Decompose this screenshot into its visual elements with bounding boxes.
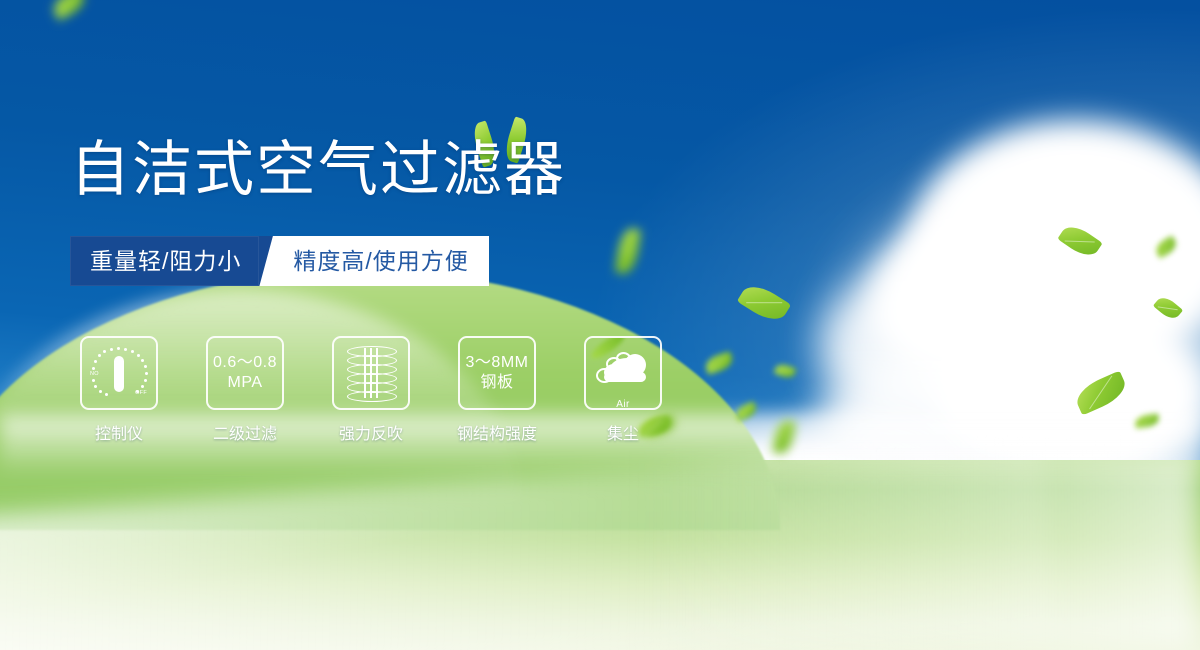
grass-light-wash: [640, 450, 1200, 650]
cloud-base: [604, 372, 646, 382]
floating-leaf: [737, 279, 791, 326]
feature-label: 强力反吹: [339, 420, 403, 444]
gauge-needle: [114, 356, 124, 392]
feature-item-two-stage-filter[interactable]: 0.6～0.8 MPA 二级过滤: [206, 336, 284, 444]
feature-label: 控制仪: [95, 420, 143, 444]
gauge-dial-icon: NO OFF: [91, 347, 147, 399]
feature-tile: Air: [584, 336, 662, 410]
feature-label: 钢结构强度: [457, 420, 537, 444]
subtitle-segment-left: 重量轻/阻力小: [70, 236, 259, 286]
grass-field: [0, 460, 1200, 650]
air-cloud-icon: Air: [594, 348, 652, 398]
feature-tile: 3～8MM 钢板: [458, 336, 536, 410]
feature-item-control-meter[interactable]: NO OFF 控制仪: [80, 336, 158, 444]
feature-item-back-blow[interactable]: 强力反吹: [332, 336, 410, 444]
feature-label: 集尘: [607, 420, 639, 444]
feature-tile: NO OFF: [80, 336, 158, 410]
tile-text-line1: 3～8MM: [466, 353, 529, 373]
subtitle-diagonal-divider: [259, 236, 285, 286]
floating-leaf: [703, 351, 735, 375]
tile-text-line2: MPA: [228, 373, 263, 393]
tile-text-line2: 钢板: [480, 373, 513, 393]
coil-filter-icon: [347, 346, 395, 400]
feature-list: NO OFF 控制仪 0.6～0.8 MPA 二级过滤: [80, 336, 662, 444]
gauge-label-off: OFF: [135, 390, 147, 396]
product-banner: 自洁式空气过滤器 重量轻/阻力小 精度高/使用方便: [0, 0, 1200, 650]
subtitle-bar: 重量轻/阻力小 精度高/使用方便: [70, 236, 489, 286]
subtitle-segment-right: 精度高/使用方便: [285, 236, 488, 286]
tile-text-line1: 0.6～0.8: [213, 353, 277, 373]
feature-label: 二级过滤: [213, 420, 277, 444]
feature-tile: [332, 336, 410, 410]
gauge-label-no: NO: [90, 371, 99, 377]
floating-leaf: [49, 0, 88, 21]
feature-tile: 0.6～0.8 MPA: [206, 336, 284, 410]
page-title: 自洁式空气过滤器: [70, 140, 566, 200]
floating-leaf: [774, 362, 797, 380]
feature-item-steel-strength[interactable]: 3～8MM 钢板 钢结构强度: [458, 336, 536, 444]
air-label: Air: [594, 399, 652, 410]
floating-leaf: [615, 227, 641, 275]
